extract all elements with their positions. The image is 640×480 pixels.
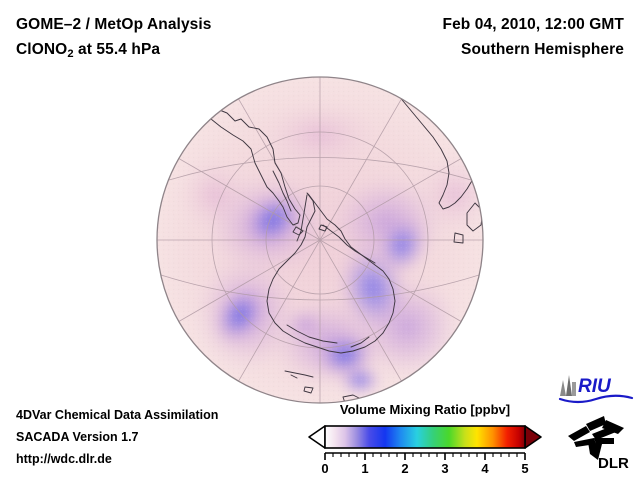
dlr-eagle-icon bbox=[568, 416, 624, 460]
globe-disk bbox=[155, 75, 485, 405]
riu-logo: RIU bbox=[556, 372, 636, 406]
header-right-titles: Feb 04, 2010, 12:00 GMT Southern Hemisph… bbox=[443, 12, 625, 62]
colorbar-min-extend-arrow bbox=[309, 426, 325, 448]
colorbar-max-extend-arrow bbox=[525, 426, 541, 448]
species-level: at 55.4 hPa bbox=[74, 41, 161, 58]
riu-wordmark: RIU bbox=[578, 376, 612, 397]
colorbar-tick-label: 3 bbox=[441, 461, 448, 474]
region-label: Southern Hemisphere bbox=[443, 37, 625, 62]
colorbar-tick-label: 4 bbox=[481, 461, 489, 474]
species-name: ClONO bbox=[16, 41, 67, 58]
dlr-logo: DLR bbox=[566, 414, 634, 472]
polar-map bbox=[155, 75, 485, 405]
species-subtitle: ClONO2 at 55.4 hPa bbox=[16, 37, 212, 64]
colorbar-gradient bbox=[325, 426, 525, 448]
colorbar-tick-label: 0 bbox=[321, 461, 328, 474]
colorbar-tick-label: 2 bbox=[401, 461, 408, 474]
colorbar-title: Volume Mixing Ratio [ppbv] bbox=[300, 402, 550, 417]
colorbar-tick-label: 1 bbox=[361, 461, 368, 474]
page-title: GOME–2 / MetOp Analysis bbox=[16, 12, 212, 37]
colorbar: Volume Mixing Ratio [ppbv] 012345 bbox=[300, 402, 550, 474]
footer-credits: 4DVar Chemical Data Assimilation SACADA … bbox=[16, 404, 218, 470]
colorbar-ticks bbox=[325, 453, 525, 460]
footer-method: 4DVar Chemical Data Assimilation bbox=[16, 404, 218, 426]
dlr-wordmark: DLR bbox=[598, 455, 629, 472]
riu-towers-icon bbox=[560, 375, 576, 396]
footer-url[interactable]: http://wdc.dlr.de bbox=[16, 448, 218, 470]
globe-svg bbox=[155, 75, 485, 405]
timestamp-label: Feb 04, 2010, 12:00 GMT bbox=[443, 12, 625, 37]
species-subscript: 2 bbox=[67, 48, 73, 60]
colorbar-tick-labels: 012345 bbox=[321, 461, 528, 474]
footer-version: SACADA Version 1.7 bbox=[16, 426, 218, 448]
colorbar-tick-label: 5 bbox=[521, 461, 528, 474]
colorbar-svg: 012345 bbox=[305, 422, 545, 474]
header-left-titles: GOME–2 / MetOp Analysis ClONO2 at 55.4 h… bbox=[16, 12, 212, 64]
